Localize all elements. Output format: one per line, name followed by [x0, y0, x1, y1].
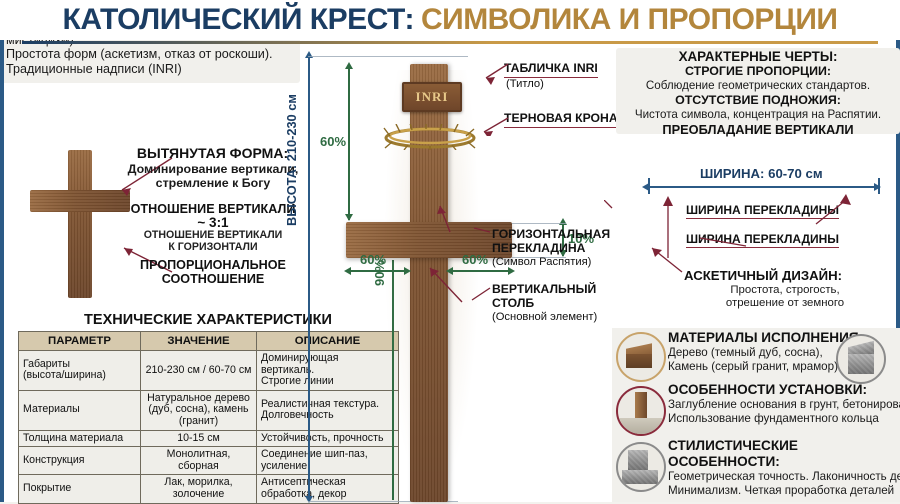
arm-guide-top [512, 223, 566, 224]
callout-horizontal-title: ГОРИЗОНТАЛЬНАЯ ПЕРЕКЛАДИНА [492, 228, 610, 255]
style-heading: СТИЛИСТИЧЕСКИЕ ОСОБЕННОСТИ: [668, 438, 900, 470]
ratio-heading: ОТНОШЕНИЕ ВЕРТИКАЛИ [118, 202, 308, 216]
table-cell-param: Толщина материала [19, 430, 141, 447]
features-subheading-2: ОТСУТСТВИЕ ПОДНОЖИЯ: [619, 93, 897, 108]
width-dimension-label: ШИРИНА: 60-70 см [700, 166, 823, 181]
features-line-2: Чистота символа, концентрация на Распяти… [619, 108, 897, 122]
left-arm-60-line [350, 270, 406, 272]
title-divider [22, 41, 878, 44]
infographic-root: КАТОЛИЧЕСКИЙ КРЕСТ: СИМВОЛИКА И ПРОПОРЦИ… [0, 0, 900, 502]
symbolic-line-4: Традиционные надписи (INRI) [6, 62, 294, 77]
callout-vertical-title: ВЕРТИКАЛЬНЫЙ СТОЛБ [492, 283, 596, 310]
table-header-param: ПАРАМЕТР [19, 332, 141, 351]
installation-heading: ОСОБЕННОСТИ УСТАНОВКИ: [668, 382, 898, 398]
ascetic-heading: АСКЕТИЧНЫЙ ДИЗАЙН: [684, 268, 842, 283]
ascetic-sub-1: Простота, строгость, [680, 284, 890, 298]
callout-pointer-arrows-top [440, 56, 520, 136]
table-cell-param: Габариты(высота/ширина) [19, 351, 141, 391]
page-title: КАТОЛИЧЕСКИЙ КРЕСТ: СИМВОЛИКА И ПРОПОРЦИ… [0, 0, 900, 40]
left-border-bar [0, 0, 4, 502]
callout-vertical-line-1: ВЕРТИКАЛЬНЫЙ [492, 283, 596, 297]
features-block: ХАРАКТЕРНЫЕ ЧЕРТЫ: СТРОГИЕ ПРОПОРЦИИ: Со… [616, 48, 900, 134]
title-part-1: КАТОЛИЧЕСКИЙ КРЕСТ: [63, 3, 414, 37]
installation-line-1: Заглубление основания в грунт, бетониров… [668, 398, 898, 412]
table-header-value: ЗНАЧЕНИЕ [141, 332, 257, 351]
vertical-post-pointer [416, 258, 476, 308]
ratio-sub-2: К ГОРИЗОНТАЛИ [118, 241, 308, 253]
installation-line-2: Использование фундаментного кольца [668, 412, 898, 426]
ascetic-pointer-arrows [604, 200, 694, 310]
callout-vertical-sub: (Основной элемент) [492, 311, 597, 324]
table-cell-value: Монолитная, сборная [141, 447, 257, 475]
proportional-line-1: ПРОПОРЦИОНАЛЬНОЕ [118, 258, 308, 272]
callout-horizontal-sub: (Символ Распятия) [492, 256, 591, 269]
left-arm-60-arrow-right [404, 267, 411, 275]
installation-text: ОСОБЕННОСТИ УСТАНОВКИ: Заглубление основ… [668, 382, 898, 425]
symbolic-line-3: Простота форм (аскетизм, отказ от роскош… [6, 47, 294, 62]
ratio-sub: ОТНОШЕНИЕ ВЕРТИКАЛИ К ГОРИЗОНТАЛИ [118, 229, 308, 253]
style-line-2: Минимализм. Четкая проработка деталей [668, 484, 900, 498]
upper-60-line [348, 68, 350, 220]
callout-horizontal-line-1: ГОРИЗОНТАЛЬНАЯ [492, 228, 610, 242]
stone-block-icon [616, 442, 666, 492]
table-cell-param: Конструкция [19, 447, 141, 475]
horizontal-beam-pointer [420, 196, 470, 236]
elongated-sub-2: стремление к Богу [118, 176, 308, 190]
upper-60-arrow-top [345, 62, 353, 69]
elongated-sub-1: Доминирование вертикали, [118, 162, 308, 176]
callout-vertical-line-2: СТОЛБ [492, 297, 596, 311]
elongated-sub: Доминирование вертикали, стремление к Бо… [118, 162, 308, 190]
table-cell-value: 10-15 см [141, 430, 257, 447]
table-cell-param: Материалы [19, 390, 141, 430]
callout-crown-title: ТЕРНОВАЯ КРОНА [504, 112, 618, 128]
post-in-ground-icon [616, 386, 666, 436]
wood-beam-icon [616, 332, 666, 382]
style-line-1: Геометрическая точность. Лаконичность де… [668, 470, 900, 484]
style-text: СТИЛИСТИЧЕСКИЕ ОСОБЕННОСТИ: Геометрическ… [668, 438, 900, 497]
left-arm-60-label: 60% [360, 252, 386, 267]
proportional-line-2: СООТНОШЕНИЕ [118, 272, 308, 286]
features-subheading-1: СТРОГИЕ ПРОПОРЦИИ: [619, 64, 897, 79]
table-cell-value: Лак, морилка,золочение [141, 475, 257, 503]
height-dimension-label: ВЫСОТА: 210-230 см [284, 94, 299, 226]
callout-crown-title-text: ТЕРНОВАЯ КРОНА [504, 112, 618, 128]
features-line-1: Соблюдение геометрических стандартов. [619, 79, 897, 93]
table-cell-value: 210-230 см / 60-70 см [141, 351, 257, 391]
features-subheading-3: ПРЕОБЛАДАНИЕ ВЕРТИКАЛИ [619, 122, 897, 137]
ratio-value: ~ 3:1 [118, 215, 308, 230]
callout-horizontal-line-2: ПЕРЕКЛАДИНА [492, 242, 610, 256]
features-heading: ХАРАКТЕРНЫЕ ЧЕРТЫ: [619, 49, 897, 64]
upper-60-label: 60% [320, 134, 346, 149]
stone-cube-icon [836, 334, 886, 384]
proportional-label: ПРОПОРЦИОНАЛЬНОЕ СООТНОШЕНИЕ [118, 258, 308, 286]
ascetic-sub-2: отрешение от земного [680, 297, 890, 311]
title-part-2: СИМВОЛИКА И ПРОПОРЦИИ [421, 3, 838, 37]
upper-60-arrow-bottom [345, 214, 353, 221]
table-cell-param: Покрытие [19, 475, 141, 503]
left-arm-60-arrow-left [344, 267, 351, 275]
table-cell-value: Натуральное дерево(дуб, сосна), камень(г… [141, 390, 257, 430]
ratio-sub-1: ОТНОШЕНИЕ ВЕРТИКАЛИ [118, 229, 308, 241]
height-dimension-line [308, 56, 310, 502]
elongated-heading: ВЫТЯНУТАЯ ФОРМА: [120, 146, 305, 161]
